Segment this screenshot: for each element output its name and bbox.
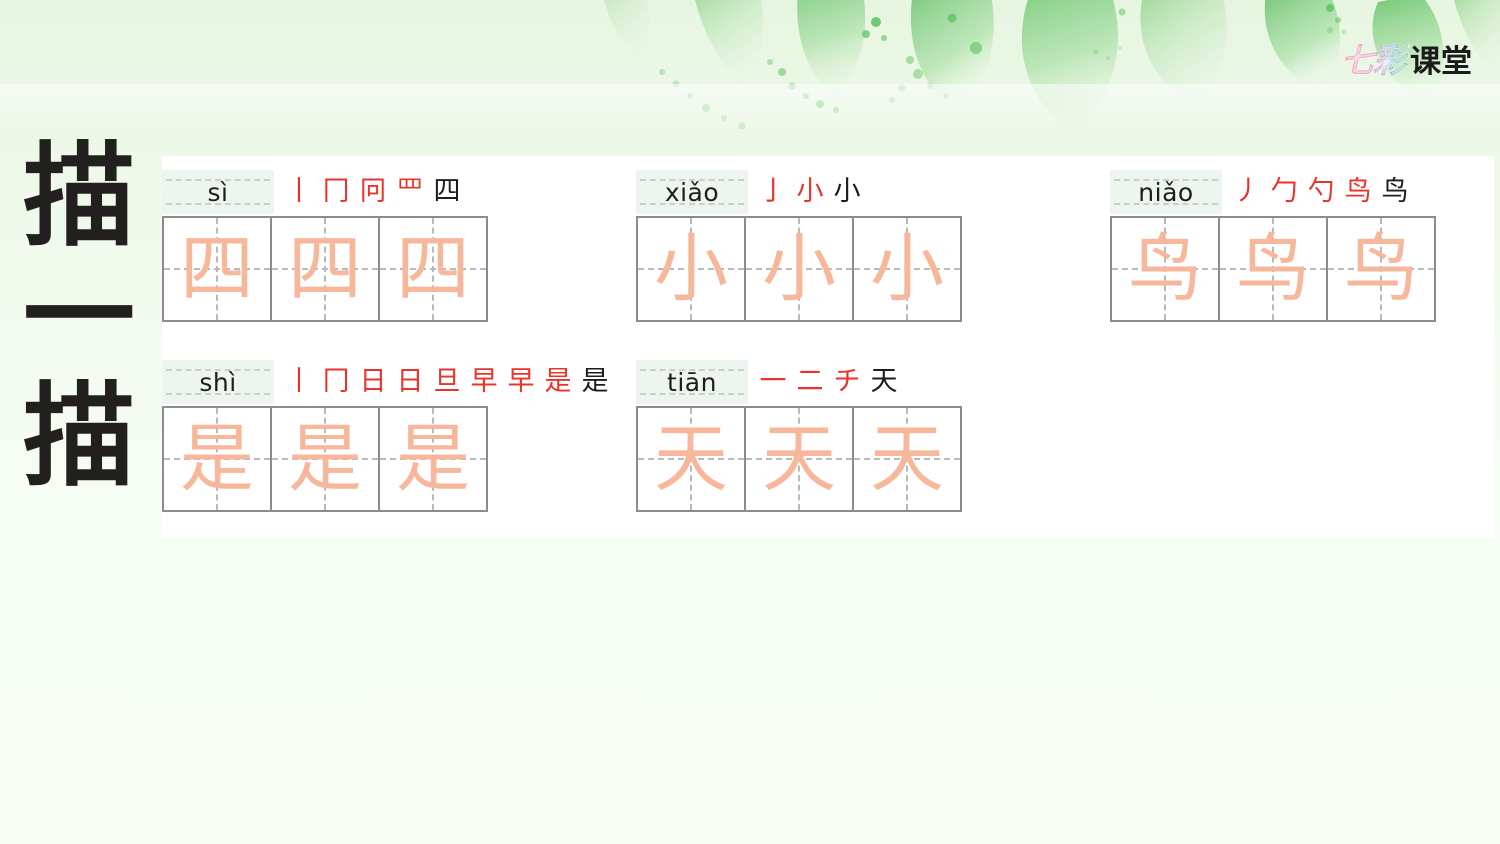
trace-character: 天	[638, 408, 744, 510]
trace-cell[interactable]: 是	[378, 406, 488, 512]
stroke-step-2: 小	[793, 175, 827, 209]
trace-character: 天	[854, 408, 960, 510]
stroke-step-glyph: 日	[356, 365, 390, 399]
char-group-鸟: niǎo丿勹勺鸟鸟鸟鸟鸟	[1110, 170, 1436, 322]
stroke-step-glyph: 亅	[756, 175, 790, 209]
stroke-step-glyph: 小	[793, 175, 827, 209]
stroke-order-sequence: 一二チ天	[748, 360, 901, 404]
stroke-step-3: 冋	[356, 175, 390, 209]
pinyin-box: shì	[162, 360, 274, 404]
stroke-step-glyph: 一	[756, 365, 790, 399]
pinyin-box: xiǎo	[636, 170, 748, 214]
stroke-step-7: 早	[504, 365, 538, 399]
trace-cell[interactable]: 小	[744, 216, 854, 322]
stroke-step-glyph: 冂	[319, 175, 353, 209]
char-group-小: xiǎo亅小小小小小	[636, 170, 962, 322]
stroke-step-9: 是	[578, 365, 612, 399]
stroke-step-glyph: チ	[830, 365, 864, 399]
brand-logo: 七彩 课堂	[1341, 34, 1472, 82]
trace-cell[interactable]: 天	[744, 406, 854, 512]
trace-character: 小	[746, 218, 852, 320]
trace-character: 四	[164, 218, 270, 320]
stroke-step-4: 鸟	[1341, 175, 1375, 209]
stroke-step-glyph: 二	[793, 365, 827, 399]
practice-grid: sì丨冂冋罒四四四四xiǎo亅小小小小小niǎo丿勹勺鸟鸟鸟鸟鸟shì丨冂日日旦…	[162, 156, 1494, 538]
trace-cell[interactable]: 鸟	[1110, 216, 1220, 322]
stroke-step-4: 罒	[393, 175, 427, 209]
stroke-step-1: 丨	[282, 175, 316, 209]
stroke-step-2: 冂	[319, 175, 353, 209]
header-decoration	[0, 0, 1500, 132]
pinyin-box: niǎo	[1110, 170, 1222, 214]
trace-character: 是	[272, 408, 378, 510]
stroke-order-sequence: 丨冂日日旦早早是是	[274, 360, 612, 404]
stroke-step-3: 日	[356, 365, 390, 399]
stroke-step-1: 亅	[756, 175, 790, 209]
stroke-step-glyph: 天	[867, 365, 901, 399]
stroke-step-2: 二	[793, 365, 827, 399]
trace-cell[interactable]: 小	[852, 216, 962, 322]
pinyin-box: sì	[162, 170, 274, 214]
trace-cell[interactable]: 四	[378, 216, 488, 322]
stroke-step-glyph: 是	[541, 365, 575, 399]
trace-cell[interactable]: 天	[852, 406, 962, 512]
pinyin-text: niǎo	[1138, 180, 1193, 205]
trace-row: 小小小	[636, 216, 962, 322]
stroke-step-glyph: 是	[578, 365, 612, 399]
char-group-head: shì丨冂日日旦早早是是	[162, 360, 612, 404]
trace-cell[interactable]: 四	[162, 216, 272, 322]
brand-colorful-text: 七彩	[1341, 34, 1408, 82]
page-title: 描 一 描	[14, 138, 144, 497]
trace-cell[interactable]: 小	[636, 216, 746, 322]
stroke-step-3: 小	[830, 175, 864, 209]
trace-cell[interactable]: 鸟	[1218, 216, 1328, 322]
trace-character: 四	[380, 218, 486, 320]
trace-character: 四	[272, 218, 378, 320]
stroke-step-glyph: 勹	[1267, 175, 1301, 209]
stroke-step-4: 天	[867, 365, 901, 399]
stroke-step-8: 是	[541, 365, 575, 399]
stroke-step-glyph: 鸟	[1378, 175, 1412, 209]
trace-row: 天天天	[636, 406, 962, 512]
stroke-step-1: 一	[756, 365, 790, 399]
trace-character: 小	[854, 218, 960, 320]
trace-cell[interactable]: 四	[270, 216, 380, 322]
stroke-step-5: 四	[430, 175, 464, 209]
char-group-四: sì丨冂冋罒四四四四	[162, 170, 488, 322]
stroke-step-glyph: 勺	[1304, 175, 1338, 209]
stroke-step-glyph: 早	[504, 365, 538, 399]
stroke-step-6: 早	[467, 365, 501, 399]
char-group-是: shì丨冂日日旦早早是是是是是	[162, 360, 612, 512]
stroke-step-glyph: 旦	[430, 365, 464, 399]
stroke-step-1: 丨	[282, 365, 316, 399]
stroke-step-3: 勺	[1304, 175, 1338, 209]
stroke-step-glyph: 冋	[356, 175, 390, 209]
worksheet-panel: sì丨冂冋罒四四四四xiǎo亅小小小小小niǎo丿勹勺鸟鸟鸟鸟鸟shì丨冂日日旦…	[162, 156, 1494, 538]
page-title-char-2: 一	[23, 258, 135, 378]
stroke-step-glyph: 冂	[319, 365, 353, 399]
char-group-天: tiān一二チ天天天天	[636, 360, 962, 512]
stroke-step-glyph: 四	[430, 175, 464, 209]
brand-classroom-text: 课堂	[1410, 36, 1472, 81]
stroke-step-glyph: 丿	[1230, 175, 1264, 209]
page-title-char-1: 描	[23, 138, 135, 258]
trace-character: 鸟	[1112, 218, 1218, 320]
stroke-step-glyph: 早	[467, 365, 501, 399]
stroke-step-glyph: 丨	[282, 365, 316, 399]
trace-character: 是	[380, 408, 486, 510]
stroke-step-1: 丿	[1230, 175, 1264, 209]
stroke-order-sequence: 亅小小	[748, 170, 864, 214]
pinyin-text: sì	[208, 180, 229, 205]
char-group-head: xiǎo亅小小	[636, 170, 962, 214]
trace-row: 是是是	[162, 406, 612, 512]
stroke-step-2: 冂	[319, 365, 353, 399]
stroke-step-3: チ	[830, 365, 864, 399]
trace-row: 鸟鸟鸟	[1110, 216, 1436, 322]
stroke-step-glyph: 鸟	[1341, 175, 1375, 209]
char-group-head: sì丨冂冋罒四	[162, 170, 488, 214]
stroke-step-4: 日	[393, 365, 427, 399]
trace-cell[interactable]: 是	[270, 406, 380, 512]
stroke-order-sequence: 丨冂冋罒四	[274, 170, 464, 214]
pinyin-text: shì	[199, 370, 236, 395]
trace-character: 是	[164, 408, 270, 510]
stroke-step-5: 鸟	[1378, 175, 1412, 209]
stroke-step-glyph: 罒	[393, 175, 427, 209]
trace-cell[interactable]: 天	[636, 406, 746, 512]
char-group-head: niǎo丿勹勺鸟鸟	[1110, 170, 1436, 214]
stroke-step-glyph: 日	[393, 365, 427, 399]
stroke-step-glyph: 丨	[282, 175, 316, 209]
pinyin-text: tiān	[667, 370, 717, 395]
trace-character: 小	[638, 218, 744, 320]
stroke-step-2: 勹	[1267, 175, 1301, 209]
char-group-head: tiān一二チ天	[636, 360, 962, 404]
pinyin-text: xiǎo	[665, 180, 719, 205]
trace-character: 天	[746, 408, 852, 510]
page-title-char-3: 描	[23, 378, 135, 498]
trace-row: 四四四	[162, 216, 488, 322]
trace-cell[interactable]: 鸟	[1326, 216, 1436, 322]
stroke-step-glyph: 小	[830, 175, 864, 209]
trace-cell[interactable]: 是	[162, 406, 272, 512]
pinyin-box: tiān	[636, 360, 748, 404]
trace-character: 鸟	[1328, 218, 1434, 320]
trace-character: 鸟	[1220, 218, 1326, 320]
stroke-step-5: 旦	[430, 365, 464, 399]
stroke-order-sequence: 丿勹勺鸟鸟	[1222, 170, 1412, 214]
